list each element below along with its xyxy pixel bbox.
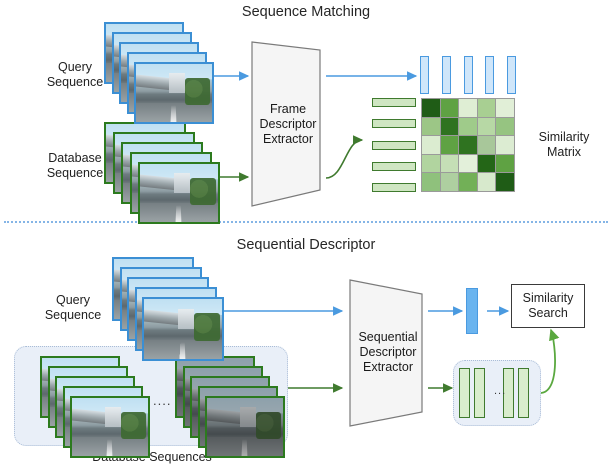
- query-photo-stack-bottom: [112, 257, 224, 341]
- matrix-cell: [441, 173, 459, 191]
- bottom-panel-title: Sequential Descriptor: [0, 237, 612, 253]
- street-scene-image: [72, 398, 148, 456]
- sequential-descriptor-extractor[interactable]: Sequential Descriptor Extractor: [344, 278, 432, 428]
- query-descriptor-bar: [442, 56, 451, 94]
- matrix-cell: [459, 155, 477, 173]
- matrix-cell: [459, 99, 477, 117]
- matrix-cell: [422, 99, 440, 117]
- building-shape: [178, 309, 194, 329]
- photo-frame: [142, 297, 224, 361]
- query-descriptor-bars-top: [420, 56, 516, 94]
- similarity-search-label-line2: Search: [523, 306, 574, 321]
- road-shape: [72, 437, 148, 456]
- matrix-cell: [478, 136, 496, 154]
- similarity-matrix-label-line1: Similarity: [519, 130, 609, 145]
- query-photo-stack-top: [104, 22, 214, 104]
- road-shape: [136, 103, 212, 122]
- database-descriptor-bar: [372, 119, 416, 128]
- similarity-matrix-label-line2: Matrix: [519, 145, 609, 160]
- matrix-cell: [478, 173, 496, 191]
- database-descriptors-ellipsis: ...: [494, 385, 506, 397]
- matrix-cell: [496, 136, 514, 154]
- database-sequential-descriptor-bar: [459, 368, 470, 418]
- matrix-cell: [459, 136, 477, 154]
- extractor-label-line2: Descriptor: [248, 117, 328, 132]
- frame-descriptor-extractor[interactable]: Frame Descriptor Extractor: [248, 40, 328, 208]
- matrix-cell: [496, 173, 514, 191]
- seq-extractor-label-line2: Descriptor: [344, 345, 432, 360]
- photo-frame: [70, 396, 150, 458]
- matrix-cell: [422, 118, 440, 136]
- building-shape: [174, 173, 190, 193]
- database-descriptor-bars-top: [372, 98, 416, 192]
- matrix-cell: [459, 118, 477, 136]
- database-photo-stack-top: [104, 122, 218, 204]
- frame-descriptor-extractor-label: Frame Descriptor Extractor: [248, 102, 328, 147]
- road-shape: [144, 340, 222, 359]
- matrix-cell: [478, 99, 496, 117]
- matrix-cell: [496, 99, 514, 117]
- database-descriptor-bar: [372, 162, 416, 171]
- query-sequential-descriptor: [466, 288, 478, 334]
- similarity-search-label-line1: Similarity: [523, 291, 574, 306]
- sequential-descriptor-extractor-label: Sequential Descriptor Extractor: [344, 330, 432, 375]
- seq-extractor-label-line3: Extractor: [344, 360, 432, 375]
- street-scene-image: [140, 164, 218, 222]
- photo-frame: [205, 396, 285, 458]
- street-scene-image: [144, 299, 222, 359]
- road-shape: [207, 437, 283, 456]
- database-sequential-descriptor-bar: [474, 368, 485, 418]
- building-shape: [105, 407, 120, 427]
- matrix-cell: [422, 173, 440, 191]
- photo-frame: [138, 162, 220, 224]
- query-descriptor-bar: [464, 56, 473, 94]
- extractor-label-line3: Extractor: [248, 132, 328, 147]
- panel-divider: [4, 221, 608, 223]
- matrix-cell: [441, 155, 459, 173]
- arrow-db-descriptors-to-similarity-search: [540, 330, 555, 393]
- database-descriptor-bar: [372, 141, 416, 150]
- database-sequential-descriptor-bar: [518, 368, 529, 418]
- database-photo-stack-b: [175, 356, 285, 438]
- matrix-cell: [478, 155, 496, 173]
- database-photo-stack-a: [40, 356, 150, 438]
- matrix-cell: [441, 99, 459, 117]
- matrix-cell: [422, 155, 440, 173]
- database-sequences-ellipsis: ....: [153, 393, 171, 408]
- building-shape: [169, 73, 184, 93]
- similarity-search-box[interactable]: Similarity Search: [511, 284, 585, 328]
- arrow-extractor-to-database-descriptors: [326, 140, 362, 178]
- matrix-cell: [478, 118, 496, 136]
- seq-extractor-label-line1: Sequential: [344, 330, 432, 345]
- similarity-matrix[interactable]: [421, 98, 515, 192]
- top-panel-title: Sequence Matching: [0, 4, 612, 20]
- road-shape: [140, 203, 218, 222]
- photo-frame: [134, 62, 214, 124]
- matrix-cell: [422, 136, 440, 154]
- query-descriptor-bar: [420, 56, 429, 94]
- building-shape: [240, 407, 255, 427]
- matrix-cell: [459, 173, 477, 191]
- matrix-cell: [496, 155, 514, 173]
- street-scene-image: [207, 398, 283, 456]
- database-descriptor-bar: [372, 98, 416, 107]
- extractor-label-line1: Frame: [248, 102, 328, 117]
- matrix-cell: [496, 118, 514, 136]
- query-descriptor-bar: [485, 56, 494, 94]
- query-descriptor-bar: [507, 56, 516, 94]
- matrix-cell: [441, 136, 459, 154]
- similarity-search-label: Similarity Search: [523, 291, 574, 321]
- matrix-cell: [441, 118, 459, 136]
- database-descriptor-bar: [372, 183, 416, 192]
- similarity-matrix-label: Similarity Matrix: [519, 130, 609, 160]
- street-scene-image: [136, 64, 212, 122]
